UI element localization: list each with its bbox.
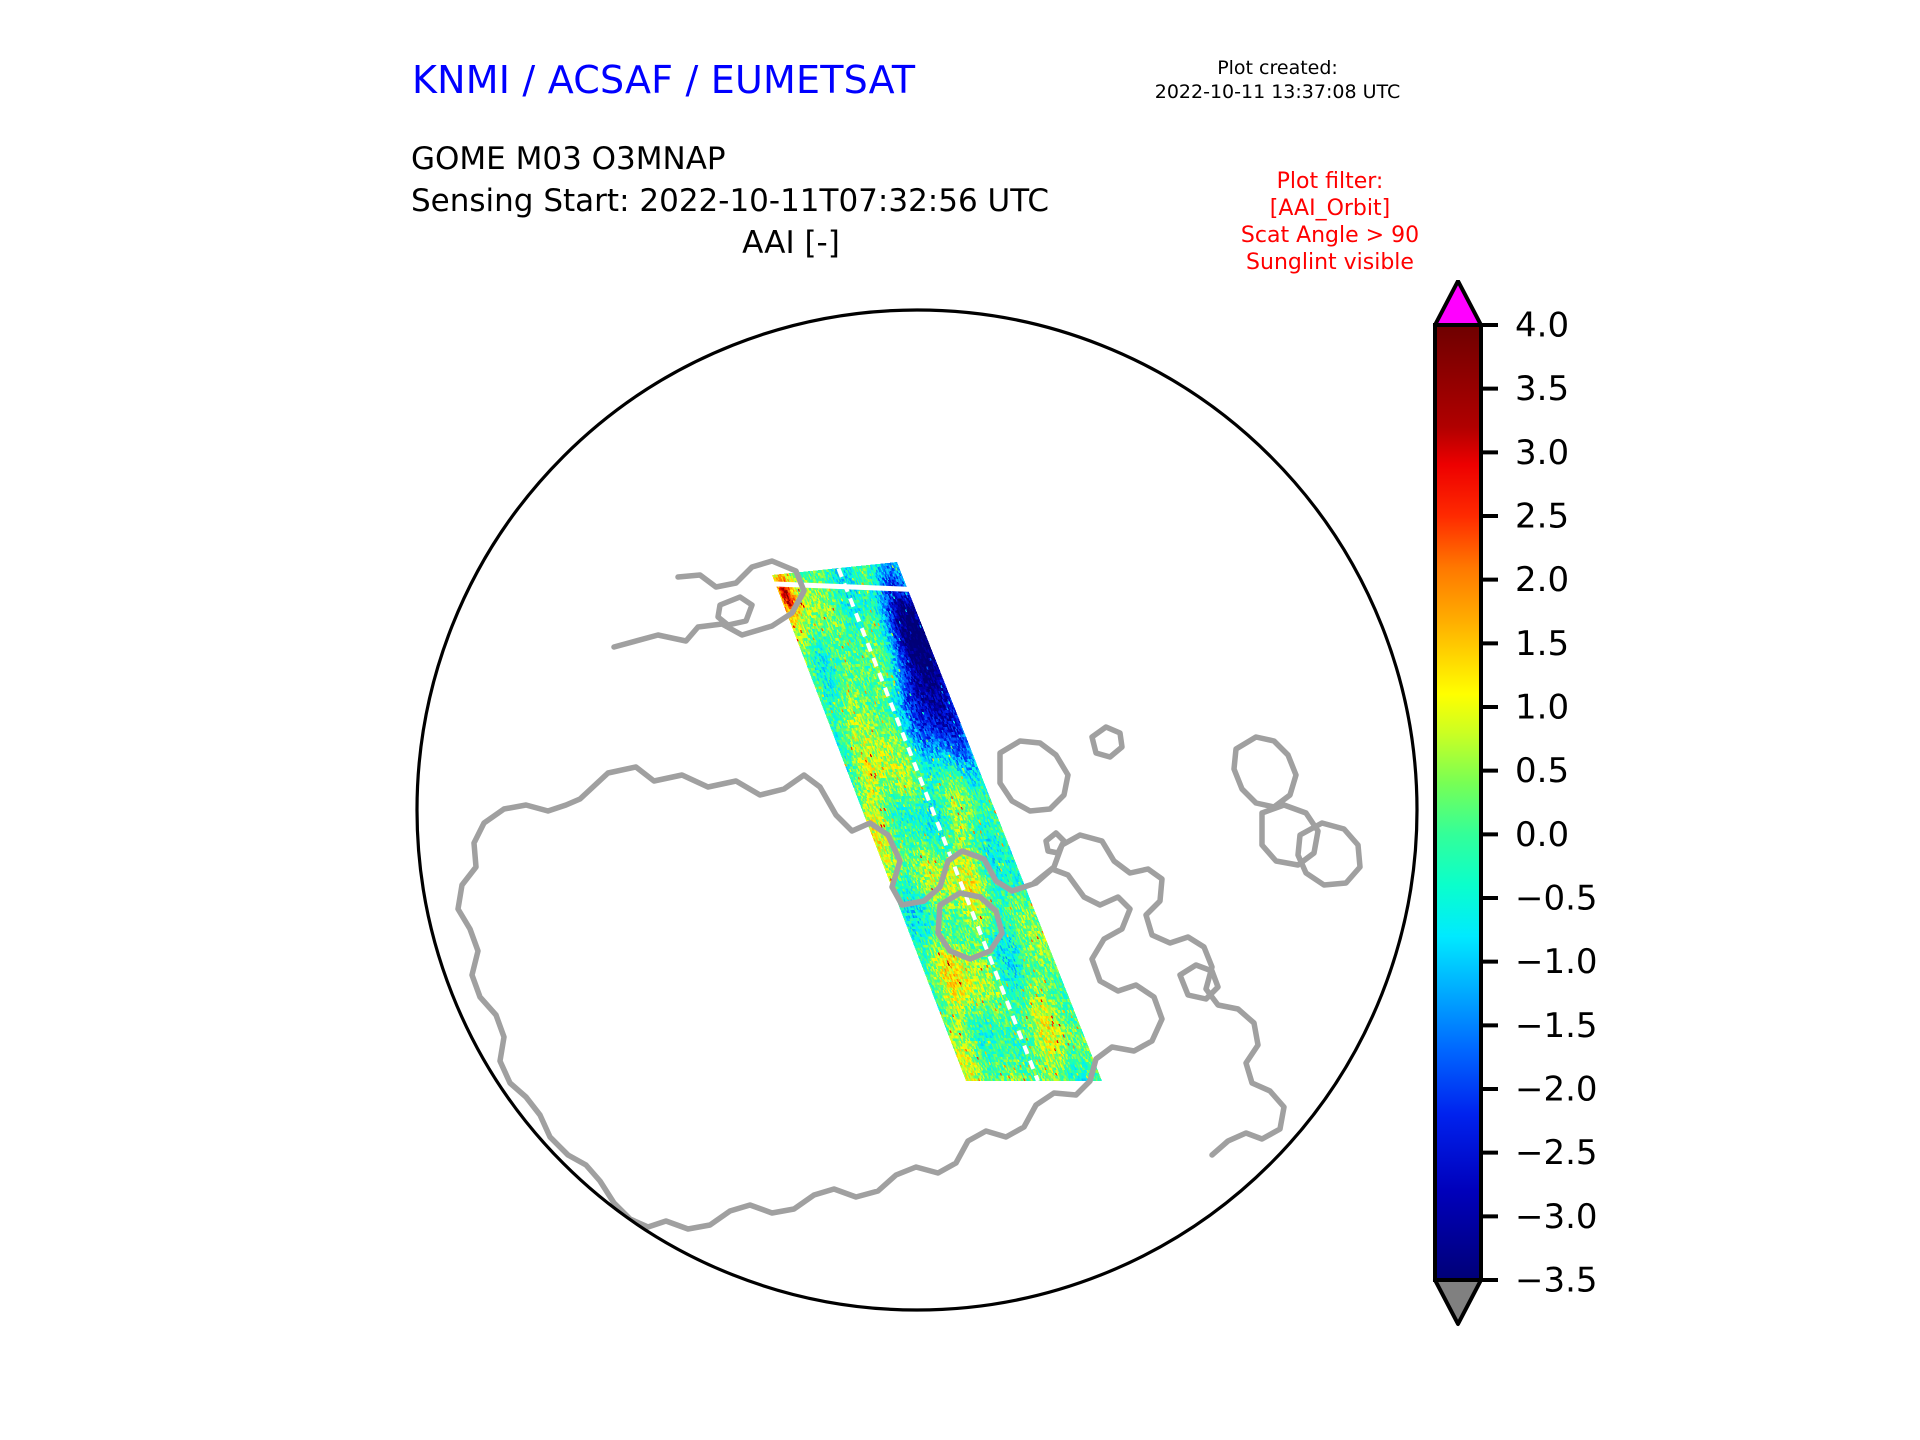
plot-filter-block: Plot filter: [AAI_Orbit] Scat Angle > 90… bbox=[1185, 168, 1475, 276]
plot-filter-line-3: Sunglint visible bbox=[1185, 249, 1475, 276]
colorbar-under-arrow bbox=[1435, 1280, 1481, 1324]
plot-filter-line-1: [AAI_Orbit] bbox=[1185, 195, 1475, 222]
colorbar-tick-label: 3.0 bbox=[1515, 433, 1569, 473]
colorbar-tick-label: 3.5 bbox=[1515, 369, 1569, 409]
colorbar-tick-label: −2.5 bbox=[1515, 1133, 1598, 1173]
plot-filter-line-0: Plot filter: bbox=[1185, 168, 1475, 195]
colorbar-tick-label: −2.0 bbox=[1515, 1070, 1598, 1110]
plot-created-label: Plot created: bbox=[1105, 56, 1450, 80]
colorbar-tick-label: −1.0 bbox=[1515, 942, 1598, 982]
colorbar-tick-label: −1.5 bbox=[1515, 1006, 1598, 1046]
plot-title-variable: AAI [-] bbox=[411, 222, 1171, 264]
organisation-title: KNMI / ACSAF / EUMETSAT bbox=[412, 58, 915, 102]
colorbar-ticks: 4.03.53.02.52.01.51.00.50.0−0.5−1.0−1.5−… bbox=[1481, 306, 1598, 1301]
plot-title-block: GOME M03 O3MNAP Sensing Start: 2022-10-1… bbox=[411, 138, 1171, 264]
plot-title-sensing-start: Sensing Start: 2022-10-11T07:32:56 UTC bbox=[411, 180, 1171, 222]
colorbar-tick-label: −3.5 bbox=[1515, 1261, 1598, 1301]
colorbar-tick-label: 2.0 bbox=[1515, 560, 1569, 600]
colorbar-tick-label: 2.5 bbox=[1515, 497, 1569, 537]
colorbar-tick-label: 4.0 bbox=[1515, 306, 1569, 346]
colorbar-tick-label: −0.5 bbox=[1515, 879, 1598, 919]
colorbar-tick-label: 1.0 bbox=[1515, 688, 1569, 728]
colorbar-tick-label: 0.5 bbox=[1515, 751, 1569, 791]
polar-map bbox=[400, 275, 1435, 1345]
plot-page: KNMI / ACSAF / EUMETSAT Plot created: 20… bbox=[0, 0, 1920, 1440]
colorbar-gradient-body bbox=[1435, 325, 1481, 1280]
swath-layer bbox=[772, 562, 1102, 1081]
colorbar-tick-label: −3.0 bbox=[1515, 1197, 1598, 1237]
satellite-swath bbox=[772, 562, 1102, 1081]
plot-filter-line-2: Scat Angle > 90 bbox=[1185, 222, 1475, 249]
map-canvas bbox=[400, 275, 1435, 1345]
plot-created-block: Plot created: 2022-10-11 13:37:08 UTC bbox=[1105, 56, 1450, 104]
colorbar-tick-label: 0.0 bbox=[1515, 815, 1569, 855]
plot-created-timestamp: 2022-10-11 13:37:08 UTC bbox=[1105, 80, 1450, 104]
colorbar-over-arrow bbox=[1435, 281, 1481, 325]
colorbar-tick-label: 1.5 bbox=[1515, 624, 1569, 664]
plot-title-instrument: GOME M03 O3MNAP bbox=[411, 138, 1171, 180]
colorbar-canvas: 4.03.53.02.52.01.51.00.50.0−0.5−1.0−1.5−… bbox=[1425, 280, 1805, 1370]
colorbar: 4.03.53.02.52.01.51.00.50.0−0.5−1.0−1.5−… bbox=[1425, 280, 1805, 1370]
